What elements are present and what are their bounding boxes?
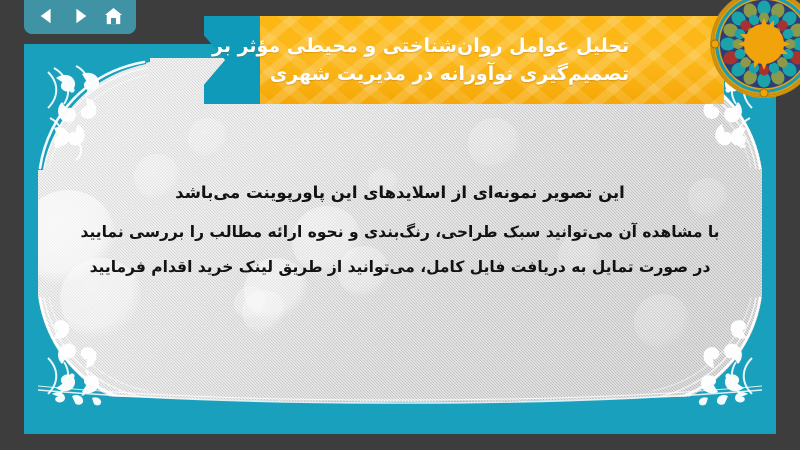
bokeh-circle [188,118,228,158]
bokeh-circle [242,290,286,334]
medallion-ornament-icon [706,0,800,102]
corner-ornament-bottom-right [650,296,762,408]
bokeh-circle [234,286,268,320]
previous-slide-button[interactable] [34,4,60,28]
presentation-viewer: این تصویر نمونه‌ای از اسلایدهای این پاور… [0,0,800,450]
bokeh-circle [634,294,690,350]
slide-canvas: این تصویر نمونه‌ای از اسلایدهای این پاور… [38,58,762,408]
home-button[interactable] [100,4,126,28]
body-line-3: در صورت تمایل به دریافت فایل کامل، می‌تو… [78,255,722,280]
page-title: تحلیل عوامل روان‌شناختی و محیطی مؤثر بر … [212,22,632,100]
bokeh-circle [468,118,520,170]
slide-body: این تصویر نمونه‌ای از اسلایدهای این پاور… [78,180,722,290]
house-icon [103,7,124,26]
bottom-border-band [38,378,762,408]
body-line-1: این تصویر نمونه‌ای از اسلایدهای این پاور… [78,180,722,207]
triangle-right-icon [71,7,89,25]
corner-ornament-top-left [38,58,150,170]
triangle-left-icon [38,7,56,25]
next-slide-button[interactable] [67,4,93,28]
slide-title-banner: تحلیل عوامل روان‌شناختی و محیطی مؤثر بر … [204,16,724,104]
corner-ornament-bottom-left [38,296,150,408]
slide-navigation-bar [24,0,136,34]
body-line-2: با مشاهده آن می‌توانید سبک طراحی، رنگ‌بن… [78,220,722,245]
